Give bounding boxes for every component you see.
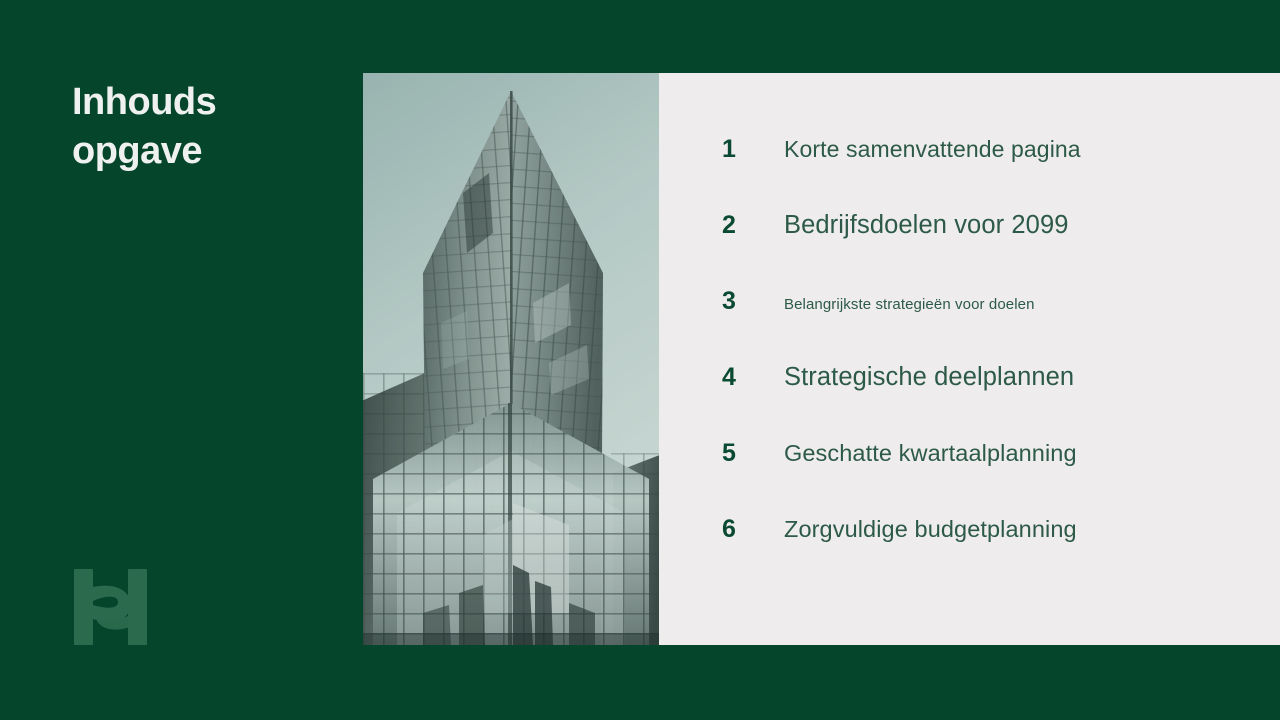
list-item[interactable]: 2 Bedrijfsdoelen voor 2099: [722, 211, 1252, 287]
list-item[interactable]: 1 Korte samenvattende pagina: [722, 135, 1252, 211]
toc-item-number: 2: [722, 211, 784, 240]
toc-item-label: Bedrijfsdoelen voor 2099: [784, 211, 1069, 240]
toc-item-number: 5: [722, 439, 784, 468]
toc-item-number: 1: [722, 135, 784, 164]
toc-item-label: Strategische deelplannen: [784, 363, 1074, 392]
list-item[interactable]: 6 Zorgvuldige budgetplanning: [722, 515, 1252, 591]
toc-item-number: 6: [722, 515, 784, 544]
toc-item-label: Zorgvuldige budgetplanning: [784, 516, 1077, 543]
brand-logo-graphic: [72, 565, 154, 649]
toc-item-number: 3: [722, 287, 784, 316]
toc-item-number: 4: [722, 363, 784, 392]
page-title-line-2: opgave: [72, 127, 342, 176]
brand-logo-icon: [72, 565, 154, 649]
slide-canvas: Inhouds opgave: [0, 0, 1280, 720]
toc-list: 1 Korte samenvattende pagina 2 Bedrijfsd…: [722, 135, 1252, 591]
skyscraper-photo: [363, 73, 659, 645]
page-title: Inhouds opgave: [72, 78, 342, 176]
skyscraper-photo-graphic: [363, 73, 659, 645]
toc-item-label: Belangrijkste strategieën voor doelen: [784, 296, 1035, 313]
list-item[interactable]: 3 Belangrijkste strategieën voor doelen: [722, 287, 1252, 363]
toc-item-label: Korte samenvattende pagina: [784, 136, 1081, 163]
toc-item-label: Geschatte kwartaalplanning: [784, 440, 1077, 467]
list-item[interactable]: 4 Strategische deelplannen: [722, 363, 1252, 439]
page-title-line-1: Inhouds: [72, 78, 342, 127]
toc-panel: 1 Korte samenvattende pagina 2 Bedrijfsd…: [659, 73, 1280, 645]
list-item[interactable]: 5 Geschatte kwartaalplanning: [722, 439, 1252, 515]
